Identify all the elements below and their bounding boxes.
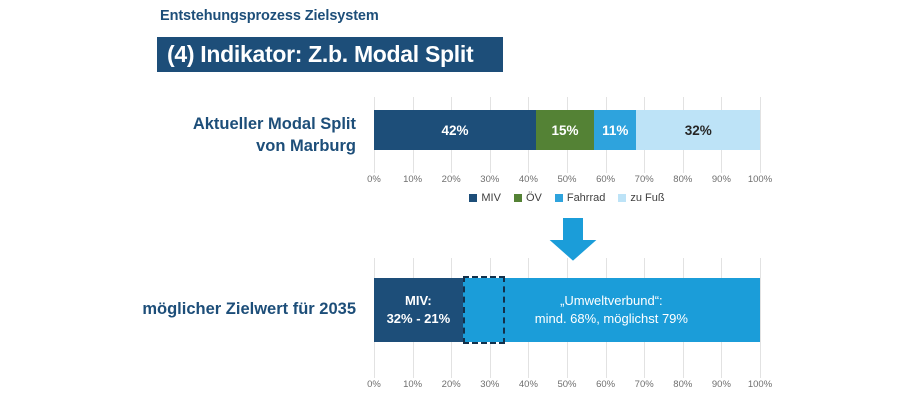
chart-label-target-2035: möglicher Zielwert für 2035 bbox=[40, 298, 356, 320]
axis-tick-label: 50% bbox=[557, 174, 576, 185]
axis-tick-label: 90% bbox=[712, 174, 731, 185]
legend-label: ÖV bbox=[526, 192, 542, 204]
axis-tick-label: 70% bbox=[635, 379, 654, 390]
x-axis-top: 0%10%20%30%40%50%60%70%80%90%100% bbox=[374, 174, 760, 188]
legend-swatch-icon bbox=[618, 194, 626, 202]
bar-segment-miv: MIV: 32% - 21% bbox=[374, 278, 463, 342]
legend-label: Fahrrad bbox=[567, 192, 606, 204]
chart-target-2035: MIV: 32% - 21% „Umweltverbund“: mind. 68… bbox=[374, 258, 760, 378]
axis-tick-label: 40% bbox=[519, 174, 538, 185]
legend-item-zu-fuß[interactable]: zu Fuß bbox=[618, 192, 664, 204]
bar-segment-öv: 15% bbox=[536, 110, 594, 150]
bar-segment-fahrrad: 11% bbox=[594, 110, 636, 150]
chart-current-modal-split: 42%15%11%32% bbox=[374, 97, 760, 173]
axis-tick-label: 0% bbox=[367, 379, 381, 390]
axis-tick-label: 20% bbox=[442, 174, 461, 185]
title-banner: (4) Indikator: Z.b. Modal Split bbox=[157, 37, 503, 72]
down-arrow-icon bbox=[545, 216, 601, 264]
chart-label-current-modal-split: Aktueller Modal Split von Marburg bbox=[40, 113, 356, 158]
kicker-text: Entstehungsprozess Zielsystem bbox=[160, 8, 379, 24]
axis-tick-label: 30% bbox=[480, 174, 499, 185]
axis-tick-label: 10% bbox=[403, 379, 422, 390]
dashed-range-annotation bbox=[463, 276, 505, 344]
axis-tick-label: 30% bbox=[480, 379, 499, 390]
legend-swatch-icon bbox=[469, 194, 477, 202]
bar-segment-umweltverbund: „Umweltverbund“: mind. 68%, möglichst 79… bbox=[463, 278, 760, 342]
chart-legend: MIVÖVFahrradzu Fuß bbox=[374, 192, 760, 204]
legend-swatch-icon bbox=[514, 194, 522, 202]
stacked-bar-current: 42%15%11%32% bbox=[374, 110, 760, 150]
bar-segment-zu-fuß: 32% bbox=[636, 110, 760, 150]
legend-label: zu Fuß bbox=[630, 192, 664, 204]
legend-swatch-icon bbox=[555, 194, 563, 202]
axis-tick-label: 100% bbox=[748, 379, 772, 390]
axis-tick-label: 70% bbox=[635, 174, 654, 185]
axis-tick-label: 60% bbox=[596, 379, 615, 390]
axis-tick-label: 80% bbox=[673, 379, 692, 390]
page-title: (4) Indikator: Z.b. Modal Split bbox=[157, 41, 473, 68]
x-axis-bottom: 0%10%20%30%40%50%60%70%80%90%100% bbox=[374, 379, 760, 393]
axis-tick-label: 0% bbox=[367, 174, 381, 185]
bar-segment-miv: 42% bbox=[374, 110, 536, 150]
axis-tick-label: 10% bbox=[403, 174, 422, 185]
legend-item-miv[interactable]: MIV bbox=[469, 192, 501, 204]
axis-tick-label: 20% bbox=[442, 379, 461, 390]
legend-item-fahrrad[interactable]: Fahrrad bbox=[555, 192, 606, 204]
axis-tick-label: 80% bbox=[673, 174, 692, 185]
axis-tick-label: 50% bbox=[557, 379, 576, 390]
gridline bbox=[760, 258, 761, 378]
axis-tick-label: 90% bbox=[712, 379, 731, 390]
axis-tick-label: 60% bbox=[596, 174, 615, 185]
slide-canvas: Entstehungsprozess Zielsystem (4) Indika… bbox=[0, 0, 920, 408]
legend-item-öv[interactable]: ÖV bbox=[514, 192, 542, 204]
axis-tick-label: 40% bbox=[519, 379, 538, 390]
gridline bbox=[760, 97, 761, 173]
stacked-bar-target: MIV: 32% - 21% „Umweltverbund“: mind. 68… bbox=[374, 278, 760, 342]
legend-label: MIV bbox=[481, 192, 501, 204]
axis-tick-label: 100% bbox=[748, 174, 772, 185]
